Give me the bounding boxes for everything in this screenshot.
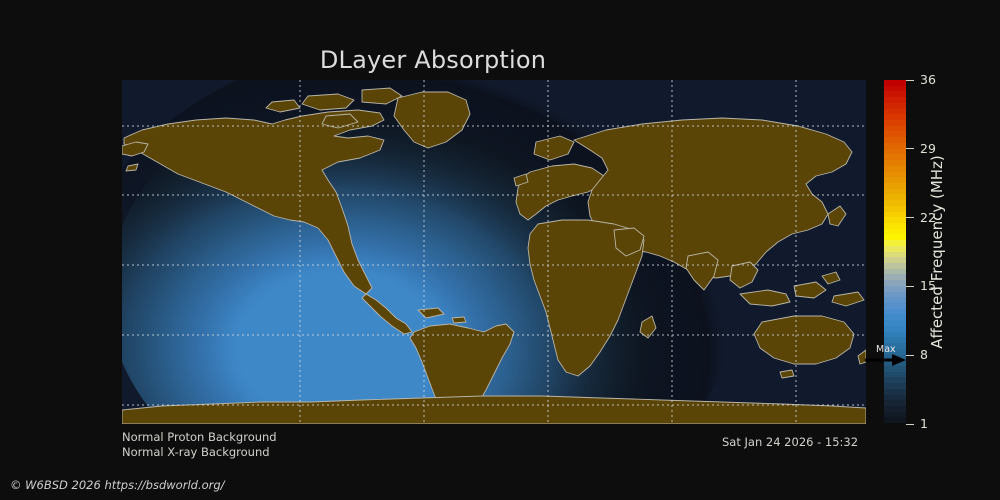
colorbar-tick-mark bbox=[906, 148, 914, 149]
colorbar-segment bbox=[884, 417, 906, 423]
hispaniola bbox=[452, 317, 466, 323]
figure-canvas: DLayer Absorption bbox=[0, 0, 1000, 500]
map-svg bbox=[122, 80, 866, 424]
tasmania bbox=[780, 370, 794, 378]
colorbar-tick-mark bbox=[906, 80, 914, 81]
colorbar-axis-label: Affected Frequency (MHz) bbox=[925, 80, 949, 424]
page-title: DLayer Absorption bbox=[0, 46, 866, 74]
max-arrow-icon bbox=[864, 354, 908, 368]
colorbar-max-marker: Max bbox=[864, 345, 908, 369]
colorbar-axis-label-text: Affected Frequency (MHz) bbox=[928, 155, 946, 349]
world-map-plot[interactable] bbox=[122, 80, 866, 424]
proton-background-note: Normal Proton Background bbox=[122, 430, 277, 444]
xray-background-note: Normal X-ray Background bbox=[122, 445, 270, 459]
copyright-notice: © W6BSD 2026 https://bsdworld.org/ bbox=[10, 478, 225, 492]
timestamp: Sat Jan 24 2026 - 15:32 bbox=[722, 435, 858, 449]
colorbar[interactable] bbox=[884, 80, 906, 424]
colorbar-tick-mark bbox=[906, 217, 914, 218]
colorbar-tick-mark bbox=[906, 286, 914, 287]
colorbar-tick-mark bbox=[906, 424, 914, 425]
